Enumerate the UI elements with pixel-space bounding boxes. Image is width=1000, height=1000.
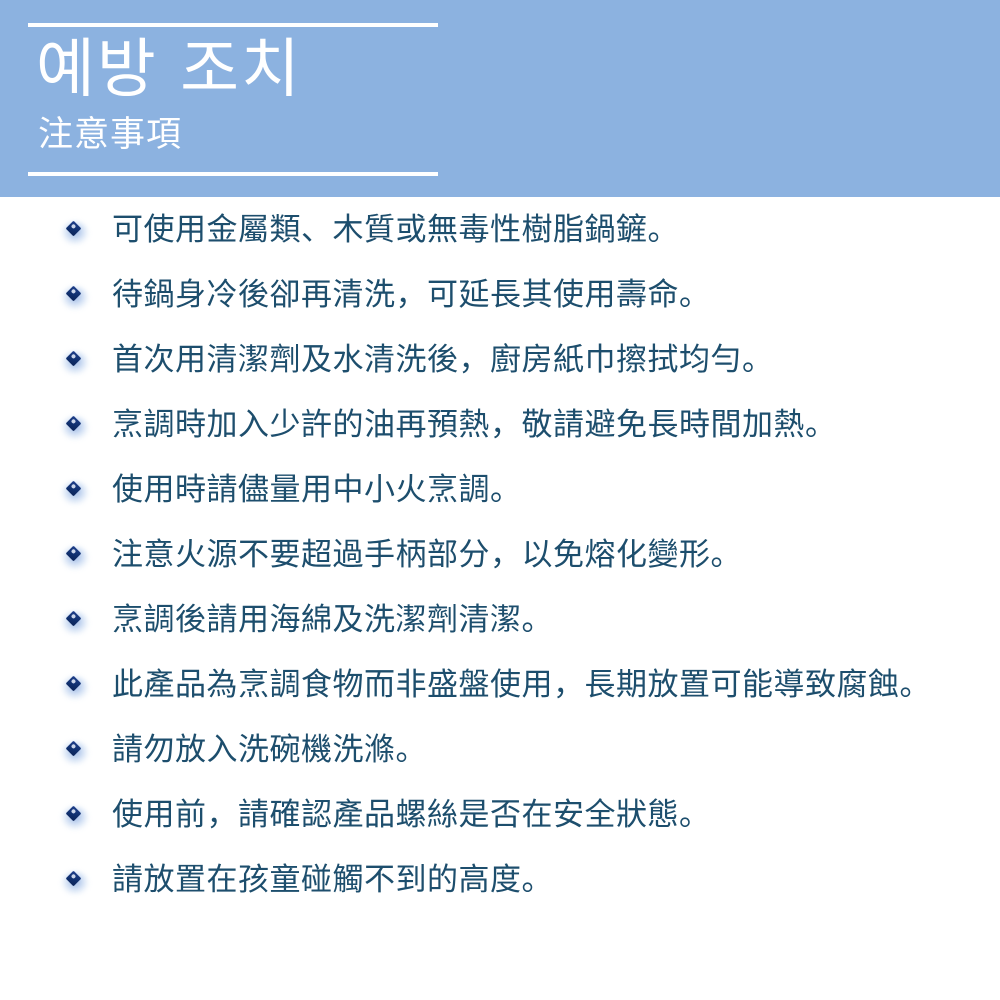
diamond-bullet-icon	[60, 800, 90, 830]
list-item: 可使用金屬類、木質或無毒性樹脂鍋鏟。	[0, 197, 1000, 262]
diamond-bullet-icon	[60, 280, 90, 310]
diamond-bullet-icon	[60, 540, 90, 570]
list-item-text: 請勿放入洗碗機洗滌。	[112, 731, 427, 769]
diamond-bullet-icon	[60, 670, 90, 700]
list-item-text: 可使用金屬類、木質或無毒性樹脂鍋鏟。	[112, 211, 679, 249]
list-item: 此產品為烹調食物而非盛盤使用，長期放置可能導致腐蝕。	[0, 652, 1000, 717]
list-item-text: 首次用清潔劑及水清洗後，廚房紙巾擦拭均勻。	[112, 341, 774, 379]
header-top-rule	[28, 23, 438, 27]
page-subtitle: 注意事項	[38, 114, 182, 156]
notice-page: 예방 조치 注意事項 可使用金屬類、木質或無毒性樹脂鍋鏟。待鍋身冷後卻再清洗，可…	[0, 0, 1000, 1000]
header-bottom-rule	[28, 172, 438, 176]
notice-list: 可使用金屬類、木質或無毒性樹脂鍋鏟。待鍋身冷後卻再清洗，可延長其使用壽命。首次用…	[0, 197, 1000, 912]
list-item-text: 烹調後請用海綿及洗潔劑清潔。	[112, 601, 553, 639]
list-item-text: 烹調時加入少許的油再預熱，敬請避免長時間加熱。	[112, 406, 837, 444]
list-item: 使用前，請確認產品螺絲是否在安全狀態。	[0, 782, 1000, 847]
list-item: 烹調時加入少許的油再預熱，敬請避免長時間加熱。	[0, 392, 1000, 457]
diamond-bullet-icon	[60, 475, 90, 505]
diamond-bullet-icon	[60, 345, 90, 375]
list-item: 使用時請儘量用中小火烹調。	[0, 457, 1000, 522]
diamond-bullet-icon	[60, 735, 90, 765]
list-item-text: 待鍋身冷後卻再清洗，可延長其使用壽命。	[112, 276, 711, 314]
diamond-bullet-icon	[60, 410, 90, 440]
diamond-bullet-icon	[60, 865, 90, 895]
list-item-text: 此產品為烹調食物而非盛盤使用，長期放置可能導致腐蝕。	[112, 666, 931, 704]
list-item: 注意火源不要超過手柄部分，以免熔化變形。	[0, 522, 1000, 587]
list-item-text: 請放置在孩童碰觸不到的高度。	[112, 861, 553, 899]
list-item: 首次用清潔劑及水清洗後，廚房紙巾擦拭均勻。	[0, 327, 1000, 392]
list-item: 烹調後請用海綿及洗潔劑清潔。	[0, 587, 1000, 652]
diamond-bullet-icon	[60, 605, 90, 635]
diamond-bullet-icon	[60, 215, 90, 245]
page-title: 예방 조치	[36, 33, 302, 107]
list-item-text: 使用前，請確認產品螺絲是否在安全狀態。	[112, 796, 711, 834]
list-item: 請勿放入洗碗機洗滌。	[0, 717, 1000, 782]
list-item-text: 使用時請儘量用中小火烹調。	[112, 471, 522, 509]
header-band: 예방 조치 注意事項	[0, 0, 1000, 197]
list-item: 請放置在孩童碰觸不到的高度。	[0, 847, 1000, 912]
list-item-text: 注意火源不要超過手柄部分，以免熔化變形。	[112, 536, 742, 574]
list-item: 待鍋身冷後卻再清洗，可延長其使用壽命。	[0, 262, 1000, 327]
